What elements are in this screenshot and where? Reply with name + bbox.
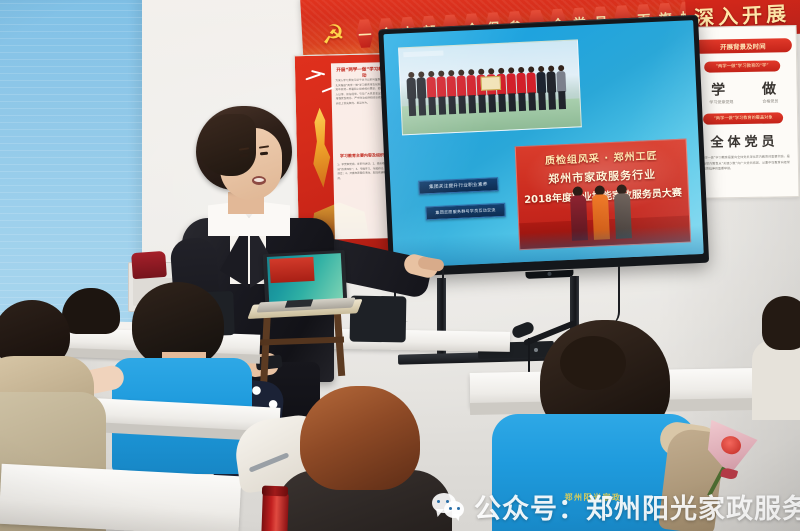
television[interactable]: 质检组风采 · 郑州工匠 郑州市家政服务行业 2018年度职业技能家政服务员大赛… [378,15,710,291]
poster-header-text: 开展背景及时间 [694,40,792,52]
poster-captions: 学习党章党规 合格党员 [695,98,793,106]
wechat-dot [446,500,449,503]
desk [0,464,241,531]
poster-caption: 合格党员 [762,98,778,104]
wechat-icon [432,491,466,521]
screenshot-root: ☭ 一 个 支 部 一 个 堡 垒 一 个 党 员 一 面 旗 帜 深入开展 [0,0,800,531]
poster-pill-2-text: “两学一做”学习教育的覆盖对象 [703,114,783,121]
poster-caption: 学习党章党规 [709,99,733,105]
poster-pill-1: “两学一做”学习教育的“学” [704,60,780,72]
attendee-head [62,288,120,334]
watermark-text: 公众号：郑州阳光家政服务公司 [474,487,800,526]
hair-bun [560,336,626,390]
screen-glare [383,20,703,268]
thermos-cap [262,486,288,497]
tv-screen[interactable]: 质检组风采 · 郑州工匠 郑州市家政服务行业 2018年度职业技能家政服务员大赛… [383,20,703,268]
dove-icon [305,72,327,84]
right-wall-poster: 开展背景及时间 “两学一做”学习教育的“学” 学 做 学习党章党规 合格党员 “… [689,25,800,199]
poster-headline-2: 全体党员 [695,130,793,151]
attendee-hair [300,386,420,490]
hammer-sickle-icon: ☭ [317,19,349,51]
slogan-char: 一 [355,18,374,49]
watermark: 公众号：郑州阳光家政服务公司 [432,484,800,528]
poster-pill-2: “两学一做”学习教育的覆盖对象 [703,112,783,124]
wechat-dot [449,507,452,510]
cable [604,266,620,326]
presenter-teeth [254,178,264,182]
flower-ribbon [720,467,738,481]
wechat-bubble-small [444,501,464,518]
thermos-flask [261,492,289,531]
presenter-hair-front [198,114,256,176]
blind-slats [0,0,142,334]
laptop-slide-preview [269,257,314,283]
attendee-hair [762,296,800,350]
attendee-body [752,340,800,420]
poster-pill-1-text: “两学一做”学习教育的“学” [704,62,780,69]
wechat-dot [457,507,460,510]
laptop-trackpad[interactable] [285,299,313,307]
poster-paragraph: “两学一做”学习教育是面向全体党员深化党内教育的重要实践，是推动党内教育从“关键… [700,154,790,173]
poster-header-band: 开展背景及时间 [694,38,792,54]
wechat-dot [437,500,440,503]
poster-headline-1: 学 做 [694,78,792,100]
red-bag [131,251,167,279]
